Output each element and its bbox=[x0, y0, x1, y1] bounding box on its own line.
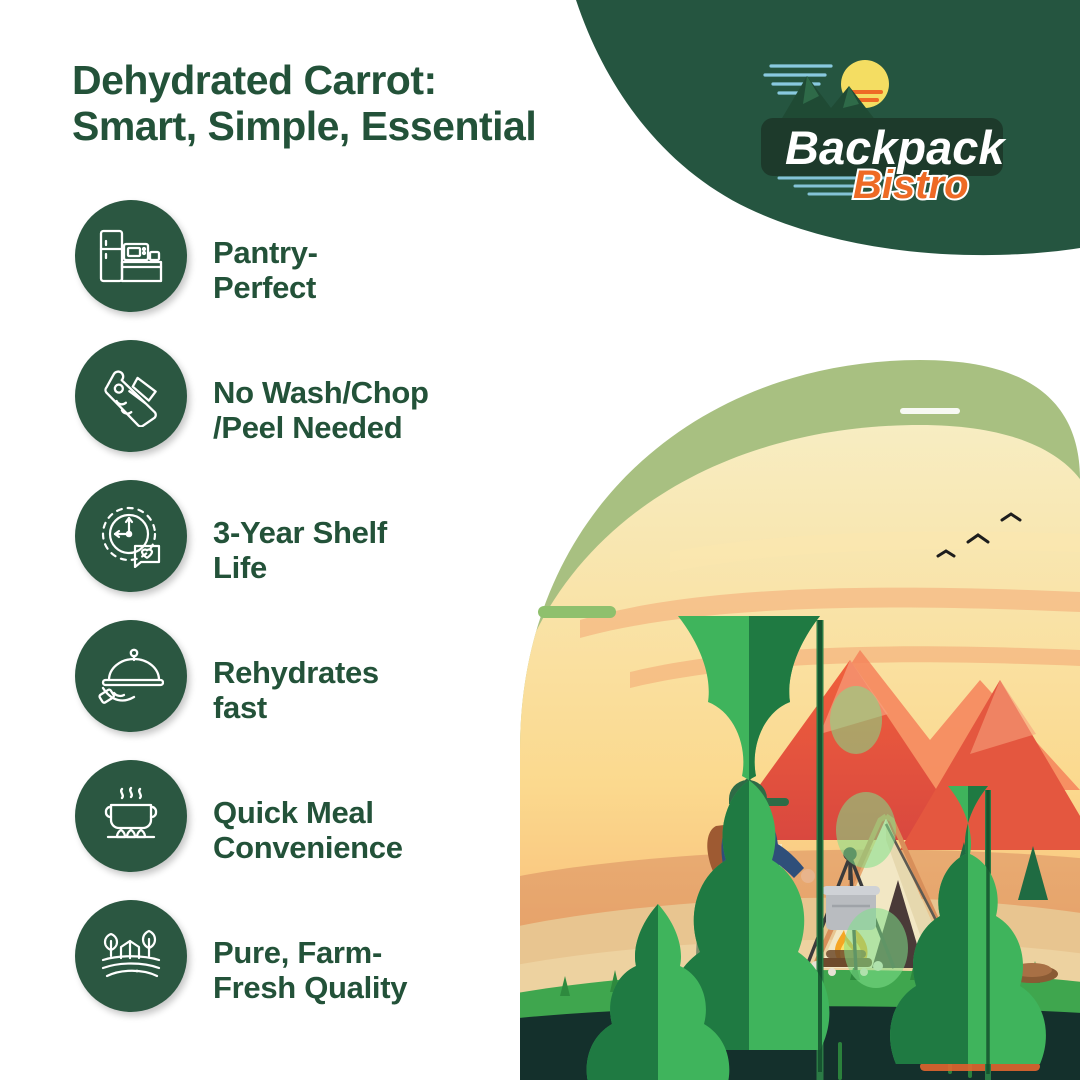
steam bbox=[121, 788, 141, 798]
feature-list: Pantry- Perfect No Wash/Chop /Peel Neede… bbox=[75, 200, 595, 1040]
feature-row: Rehydrates fast bbox=[75, 620, 595, 760]
feature-icon-badge bbox=[75, 480, 187, 592]
title-line-1: Dehydrated Carrot: bbox=[72, 58, 692, 104]
farm-field-icon bbox=[99, 928, 163, 984]
feature-icon-badge bbox=[75, 200, 187, 312]
feature-icon-badge bbox=[75, 340, 187, 452]
title-line-2: Smart, Simple, Essential bbox=[72, 104, 692, 150]
cloche-hand-icon bbox=[98, 647, 164, 705]
brand-logo[interactable]: Backpack Bistro bbox=[757, 52, 1007, 204]
kitchen-pantry-icon bbox=[98, 228, 164, 284]
feature-row: Quick Meal Convenience bbox=[75, 760, 595, 900]
clock-heart-icon bbox=[99, 504, 163, 568]
infographic-canvas: Backpack Bistro Dehydrated Carrot: Smart… bbox=[0, 0, 1080, 1080]
page-title: Dehydrated Carrot: Smart, Simple, Essent… bbox=[72, 58, 692, 150]
cooking-pot-stove-icon bbox=[100, 785, 162, 847]
feature-row: 3-Year Shelf Life bbox=[75, 480, 595, 620]
cloud bbox=[900, 408, 960, 414]
feature-row: No Wash/Chop /Peel Needed bbox=[75, 340, 595, 480]
feature-icon-badge bbox=[75, 620, 187, 732]
feature-row: Pantry- Perfect bbox=[75, 200, 595, 340]
feature-icon-badge bbox=[75, 900, 187, 1012]
branch-stub bbox=[538, 606, 616, 618]
cutting-board-knife-icon bbox=[100, 365, 162, 427]
logo-brand-bottom: Bistro bbox=[853, 163, 969, 204]
feature-icon-badge bbox=[75, 760, 187, 872]
camping-scene-illustration bbox=[520, 320, 1080, 1080]
feature-label: Pantry- Perfect bbox=[213, 235, 593, 305]
feature-row: Pure, Farm- Fresh Quality bbox=[75, 900, 595, 1040]
